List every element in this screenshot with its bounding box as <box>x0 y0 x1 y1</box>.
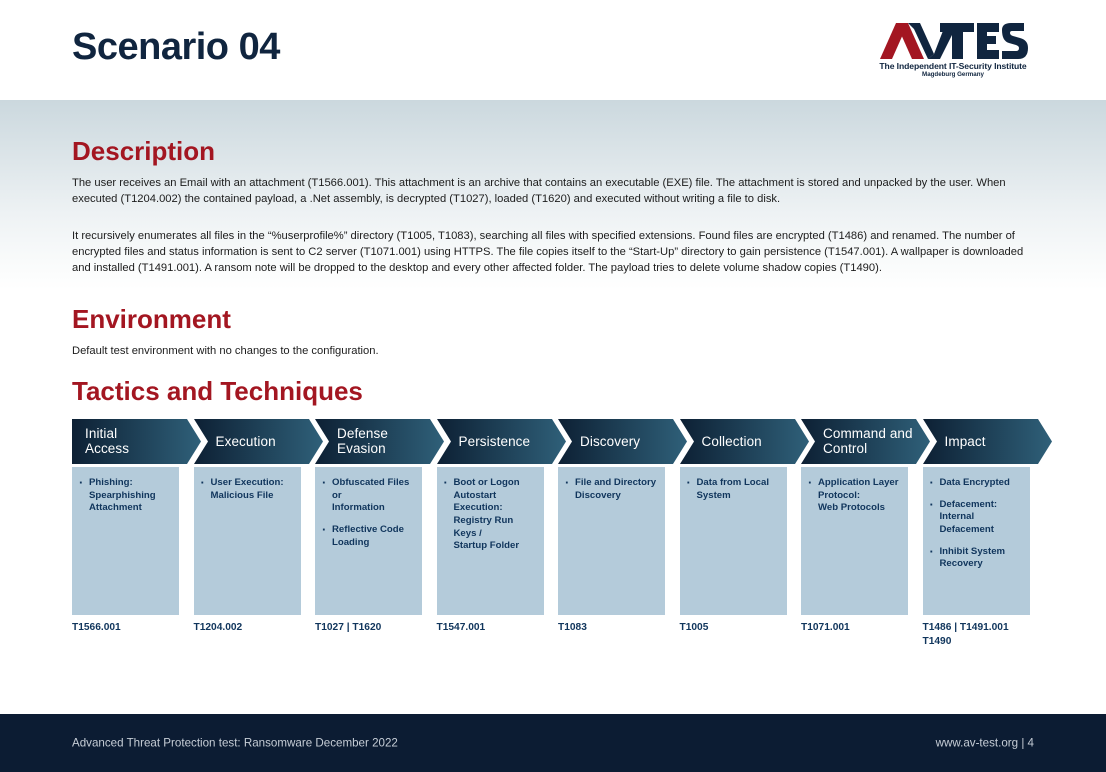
tactic-column: Defense EvasionObfuscated Files or Infor… <box>315 419 422 464</box>
technique-list: Obfuscated Files or InformationReflectiv… <box>315 467 422 615</box>
tactic-column: ExecutionUser Execution: Malicious FileT… <box>194 419 301 464</box>
av-test-logo-mark <box>878 21 1028 61</box>
av-test-logo: The Independent IT-Security Institute Ma… <box>878 21 1028 79</box>
technique-list: Application Layer Protocol: Web Protocol… <box>801 467 908 615</box>
technique-item: User Execution: Malicious File <box>200 477 293 502</box>
tactic-column: ImpactData EncryptedDefacement: Internal… <box>923 419 1030 464</box>
technique-item: Obfuscated Files or Information <box>321 477 414 515</box>
technique-item: Phishing: Spearphishing Attachment <box>78 477 171 515</box>
tactics-and-techniques-table: Initial AccessPhishing: Spearphishing At… <box>72 419 1034 639</box>
page-footer: Advanced Threat Protection test: Ransomw… <box>0 714 1106 772</box>
technique-item: Reflective Code Loading <box>321 524 414 549</box>
tactic-header: Command and Control <box>801 419 930 464</box>
tactic-header: Discovery <box>558 419 687 464</box>
tactic-header: Impact <box>923 419 1052 464</box>
tactic-header: Execution <box>194 419 323 464</box>
technique-list: Phishing: Spearphishing Attachment <box>72 467 179 615</box>
technique-ids: T1547.001 <box>437 621 557 635</box>
tactic-column: Command and ControlApplication Layer Pro… <box>801 419 908 464</box>
technique-list: Boot or Logon Autostart Execution: Regis… <box>437 467 544 615</box>
environment-heading: Environment <box>0 306 231 332</box>
tactic-name: Discovery <box>580 434 640 450</box>
description-heading: Description <box>0 138 215 164</box>
technique-item: Defacement: Internal Defacement <box>929 499 1022 537</box>
description-paragraph-2: It recursively enumerates all files in t… <box>0 228 1106 277</box>
technique-ids: T1005 <box>680 621 800 635</box>
technique-item: Inhibit System Recovery <box>929 546 1022 571</box>
tactic-header: Initial Access <box>72 419 201 464</box>
logo-tagline: The Independent IT-Security Institute <box>878 61 1028 71</box>
tactic-name: Defense Evasion <box>337 426 388 458</box>
tactic-name: Persistence <box>459 434 531 450</box>
technique-ids: T1204.002 <box>194 621 314 635</box>
environment-paragraph: Default test environment with no changes… <box>0 343 1106 359</box>
tactic-column: CollectionData from Local SystemT1005 <box>680 419 787 464</box>
technique-ids: T1083 <box>558 621 678 635</box>
technique-ids: T1486 | T1491.001 T1490 <box>923 621 1043 649</box>
technique-list: Data from Local System <box>680 467 787 615</box>
technique-item: Data Encrypted <box>929 477 1022 490</box>
technique-ids: T1566.001 <box>72 621 192 635</box>
description-paragraph-1: The user receives an Email with an attac… <box>0 175 1106 207</box>
footer-test-name: Advanced Threat Protection test: Ransomw… <box>72 737 398 750</box>
technique-item: File and Directory Discovery <box>564 477 657 502</box>
tactic-header: Collection <box>680 419 809 464</box>
technique-list: User Execution: Malicious File <box>194 467 301 615</box>
chevron-icon <box>923 419 1052 464</box>
tactics-heading: Tactics and Techniques <box>0 378 363 404</box>
tactic-column: Initial AccessPhishing: Spearphishing At… <box>72 419 179 464</box>
technique-item: Application Layer Protocol: Web Protocol… <box>807 477 900 515</box>
footer-url-page[interactable]: www.av-test.org | 4 <box>936 737 1034 750</box>
tactic-name: Command and Control <box>823 426 913 458</box>
tactic-name: Impact <box>945 434 986 450</box>
tactic-header: Persistence <box>437 419 566 464</box>
page-title: Scenario 04 <box>72 28 280 66</box>
tactic-name: Collection <box>702 434 762 450</box>
technique-list: Data EncryptedDefacement: Internal Defac… <box>923 467 1030 615</box>
tactic-name: Initial Access <box>85 426 129 458</box>
page-header: Scenario 04 The Independen <box>0 0 1106 100</box>
technique-item: Boot or Logon Autostart Execution: Regis… <box>443 477 536 553</box>
tactic-column: PersistenceBoot or Logon Autostart Execu… <box>437 419 544 464</box>
technique-ids: T1071.001 <box>801 621 921 635</box>
technique-list: File and Directory Discovery <box>558 467 665 615</box>
technique-item: Data from Local System <box>686 477 779 502</box>
tactic-column: DiscoveryFile and Directory DiscoveryT10… <box>558 419 665 464</box>
tactic-name: Execution <box>216 434 276 450</box>
tactic-header: Defense Evasion <box>315 419 444 464</box>
logo-location: Magdeburg Germany <box>878 71 1028 78</box>
technique-ids: T1027 | T1620 <box>315 621 435 635</box>
